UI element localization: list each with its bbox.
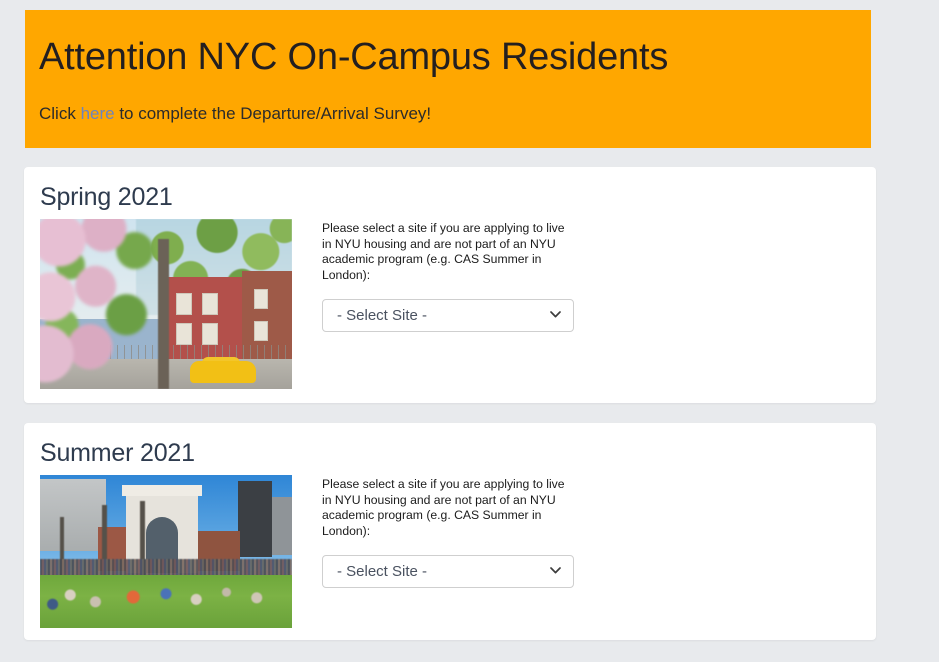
photo-window: [254, 289, 268, 309]
term-photo-summer-2021: [40, 475, 292, 628]
spring-2021-site-select[interactable]: - Select Site -: [322, 299, 574, 332]
term-form-spring-2021: Please select a site if you are applying…: [322, 221, 575, 332]
departure-arrival-survey-link[interactable]: here: [81, 104, 115, 123]
site-select-wrapper[interactable]: - Select Site -: [322, 555, 574, 588]
photo-window: [202, 293, 218, 315]
term-title-spring-2021: Spring 2021: [24, 167, 876, 212]
photo-window: [202, 323, 218, 345]
photo-building-left: [40, 479, 106, 551]
photo-window: [176, 323, 192, 345]
photo-arch-cornice: [122, 485, 202, 496]
term-form-summer-2021: Please select a site if you are applying…: [322, 477, 575, 588]
alert-title: Attention NYC On-Campus Residents: [39, 38, 871, 78]
photo-people-on-lawn: [40, 573, 292, 613]
housing-application-page: Attention NYC On-Campus Residents Click …: [0, 0, 939, 662]
photo-building-right: [272, 497, 292, 555]
alert-subtitle: Click here to complete the Departure/Arr…: [39, 104, 871, 124]
attention-alert-banner: Attention NYC On-Campus Residents Click …: [25, 10, 871, 148]
photo-cherry-blossoms: [40, 219, 174, 389]
term-title-summer-2021: Summer 2021: [24, 423, 876, 468]
site-select-helper-text: Please select a site if you are applying…: [322, 221, 575, 283]
photo-window: [254, 321, 268, 341]
site-select-wrapper[interactable]: - Select Site -: [322, 299, 574, 332]
photo-yellow-taxi: [190, 361, 256, 383]
photo-window: [176, 293, 192, 315]
term-photo-spring-2021: [40, 219, 292, 389]
photo-building-dark: [238, 481, 272, 557]
site-select-helper-text: Please select a site if you are applying…: [322, 477, 575, 539]
summer-2021-site-select[interactable]: - Select Site -: [322, 555, 574, 588]
alert-text-after-link: to complete the Departure/Arrival Survey…: [115, 104, 432, 123]
alert-text-before-link: Click: [39, 104, 81, 123]
